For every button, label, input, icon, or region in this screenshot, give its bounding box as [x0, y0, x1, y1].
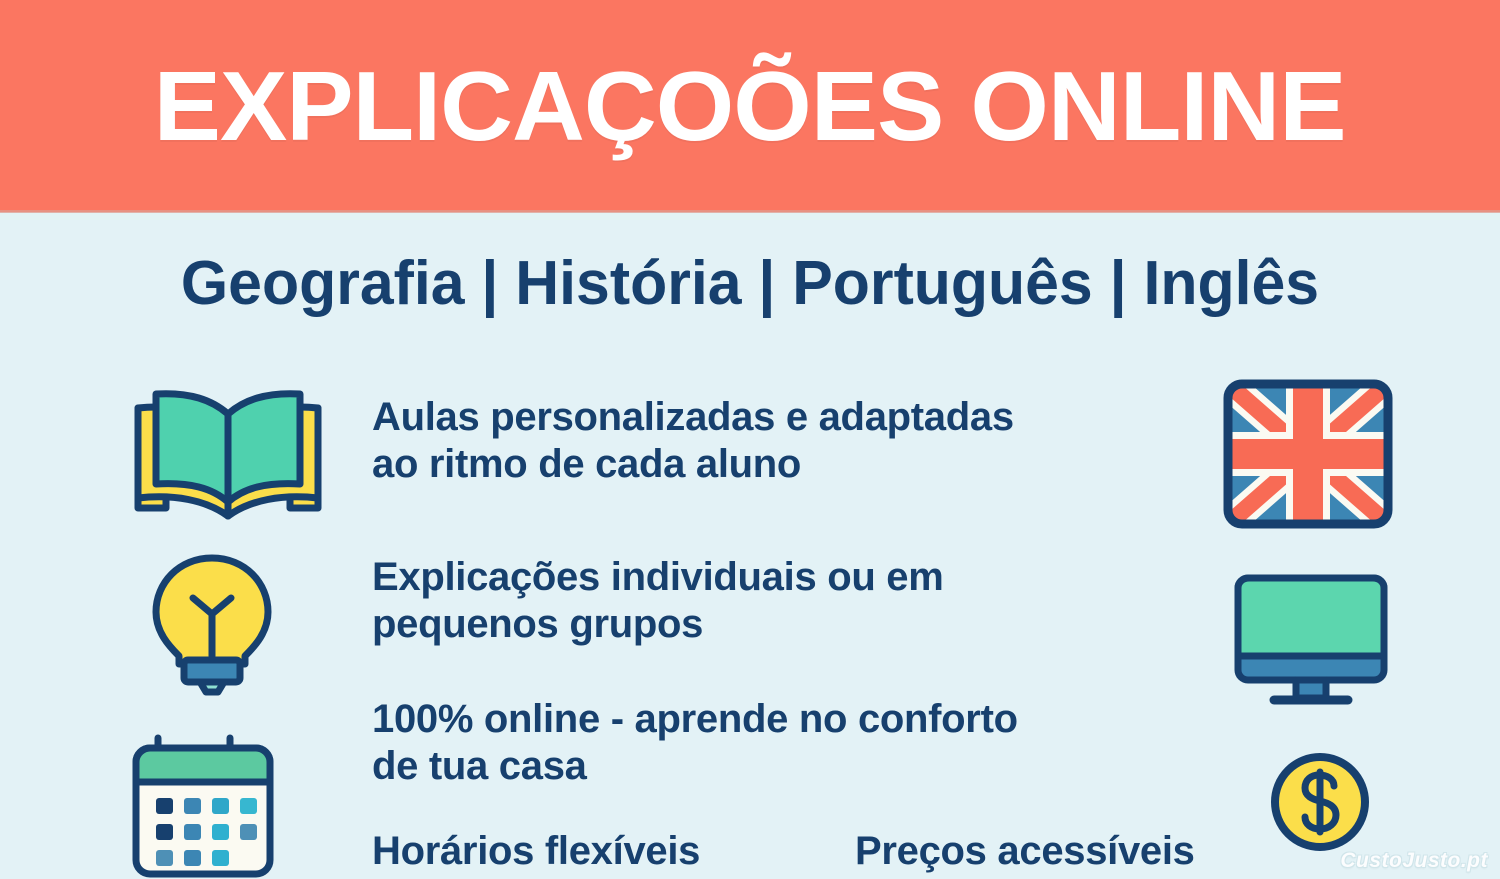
dollar-coin-icon [1268, 750, 1372, 854]
feature-line: 100% online - aprende no conforto [372, 696, 1018, 743]
lightbulb-icon [146, 552, 278, 698]
feature-line: ao ritmo de cada aluno [372, 441, 1014, 488]
feature-line: Explicações individuais ou em [372, 554, 944, 601]
monitor-icon [1232, 572, 1390, 708]
feature-line: Aulas personalizadas e adaptadas [372, 394, 1014, 441]
page-title: EXPLICAÇOÕES ONLINE [154, 57, 1346, 155]
feature-text-5: Preços acessíveis [855, 828, 1195, 875]
watermark-logo: CustoJusto.pt [1340, 849, 1488, 873]
feature-text-1: Aulas personalizadas e adaptadas ao ritm… [372, 394, 1014, 488]
feature-line: de tua casa [372, 743, 1018, 790]
subjects-heading: Geografia | História | Português | Inglê… [15, 253, 1485, 315]
feature-line: Preços acessíveis [855, 828, 1195, 875]
feature-line: pequenos grupos [372, 601, 944, 648]
feature-text-4: Horários flexíveis [372, 828, 700, 875]
calendar-icon [128, 732, 278, 879]
uk-flag-icon [1222, 378, 1394, 530]
poster-canvas: EXPLICAÇOÕES ONLINE Geografia | História… [0, 0, 1500, 879]
feature-text-3: 100% online - aprende no conforto de tua… [372, 696, 1018, 790]
header-banner: EXPLICAÇOÕES ONLINE [0, 0, 1500, 212]
feature-text-2: Explicações individuais ou em pequenos g… [372, 554, 944, 648]
open-book-icon [128, 384, 328, 526]
feature-line: Horários flexíveis [372, 828, 700, 875]
